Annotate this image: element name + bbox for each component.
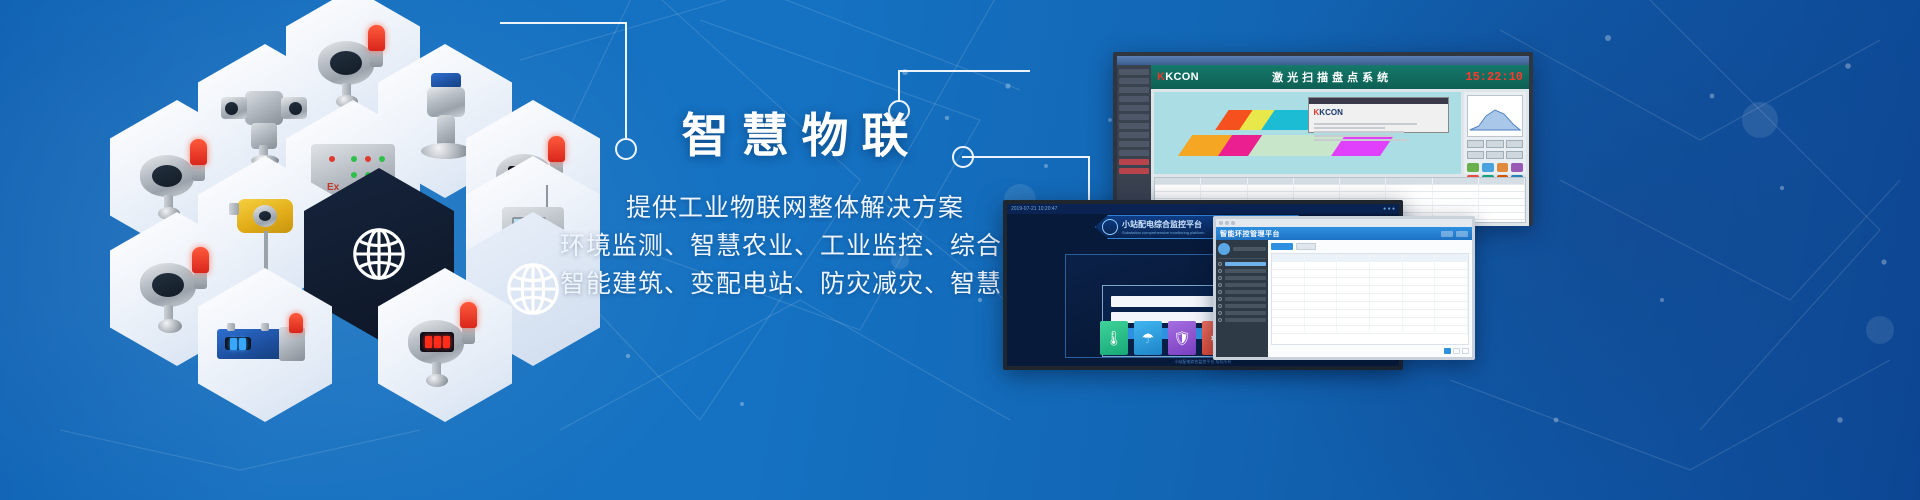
nav-item-settings[interactable] xyxy=(1218,318,1266,322)
console-title: 小站配电综合监控平台 xyxy=(1122,219,1205,230)
digital-display-detector-icon xyxy=(402,298,488,392)
platform-title: 智能环控管理平台 xyxy=(1220,229,1280,239)
connector-lead-left-horizontal xyxy=(500,22,627,24)
table-row xyxy=(1272,310,1468,318)
page-1-button[interactable] xyxy=(1444,348,1451,354)
scan-canvas[interactable]: KKCON xyxy=(1154,92,1461,174)
window-titlebar xyxy=(1117,56,1529,65)
table-header-row xyxy=(1272,254,1468,262)
nav-item-devices[interactable] xyxy=(1218,290,1266,294)
nav-item-history[interactable] xyxy=(1218,276,1266,280)
left-navigation[interactable] xyxy=(1216,240,1268,357)
nav-item-permissions[interactable] xyxy=(1218,311,1266,315)
nav-item-realtime[interactable] xyxy=(1218,269,1266,273)
temperature-tile[interactable]: 🌡 xyxy=(1100,321,1128,355)
app-title: 激光扫描盘点系统 xyxy=(1272,69,1392,85)
humidity-tile[interactable]: ☂ xyxy=(1134,321,1162,355)
connector-lead-top-horizontal xyxy=(900,70,1030,72)
console-subtitle: Substation comprehensive monitoring plat… xyxy=(1122,230,1205,235)
avatar xyxy=(1218,243,1230,255)
hero-text-block: 智慧物联 提供工业物联网整体解决方案 环境监测、智慧农业、工业监控、综合管廊、 … xyxy=(560,108,1030,303)
page-title: 智慧物联 xyxy=(560,108,1030,163)
table-toolbar[interactable] xyxy=(1271,243,1469,250)
table-row xyxy=(1272,294,1468,302)
table-row xyxy=(1272,302,1468,310)
function-tiles[interactable]: 🌡 ☂ 🛡 ⚙ xyxy=(1100,321,1230,355)
table-row xyxy=(1272,318,1468,326)
table-row xyxy=(1272,270,1468,278)
subtitle-line-1: 提供工业物联网整体解决方案 xyxy=(560,189,1030,227)
connector-lead-top-vertical xyxy=(898,70,900,102)
hero-banner: Ex xyxy=(0,0,1920,500)
subtitle-line-3: 智能建筑、变配电站、防灾减灾、智慧交通 xyxy=(560,265,1030,303)
browser-chrome xyxy=(1216,219,1472,227)
console-status: ● ● ● xyxy=(1383,206,1395,212)
nav-item-overview[interactable] xyxy=(1218,262,1266,266)
user-profile[interactable] xyxy=(1218,243,1266,259)
table-row xyxy=(1272,326,1468,334)
subtitle-block: 提供工业物联网整体解决方案 环境监测、智慧农业、工业监控、综合管廊、 智能建筑、… xyxy=(560,189,1030,303)
product-hexagon-cluster: Ex xyxy=(48,0,608,500)
security-tile[interactable]: 🛡 xyxy=(1168,321,1196,355)
clock-display: 15:22:10 xyxy=(1465,70,1523,84)
control-panel[interactable] xyxy=(1464,92,1526,174)
page-2-button[interactable] xyxy=(1453,348,1460,354)
add-button[interactable] xyxy=(1271,243,1293,250)
globe-icon xyxy=(348,223,410,285)
table-row xyxy=(1272,278,1468,286)
about-dialog[interactable]: KKCON xyxy=(1308,97,1449,133)
export-button[interactable] xyxy=(1296,243,1316,250)
page-3-button[interactable] xyxy=(1462,348,1469,354)
trend-mini-chart xyxy=(1467,95,1523,137)
table-row xyxy=(1272,286,1468,294)
subtitle-line-2: 环境监测、智慧农业、工业监控、综合管廊、 xyxy=(560,227,1030,265)
nav-item-alarms[interactable] xyxy=(1218,283,1266,287)
app-logo: KKCON xyxy=(1157,71,1199,83)
monitor-environment-management[interactable]: 智能环控管理平台 xyxy=(1213,216,1475,360)
rack-controller-icon xyxy=(217,313,313,377)
data-table[interactable] xyxy=(1271,253,1469,345)
seal-icon xyxy=(1102,219,1118,235)
console-timestamp: 2019-07-21 10:20:47 xyxy=(1011,206,1057,212)
pagination[interactable] xyxy=(1271,345,1469,354)
nav-item-reports[interactable] xyxy=(1218,304,1266,308)
nav-item-nodes[interactable] xyxy=(1218,297,1266,301)
header-actions[interactable] xyxy=(1441,231,1468,237)
table-row xyxy=(1272,262,1468,270)
username-input[interactable] xyxy=(1111,296,1219,307)
